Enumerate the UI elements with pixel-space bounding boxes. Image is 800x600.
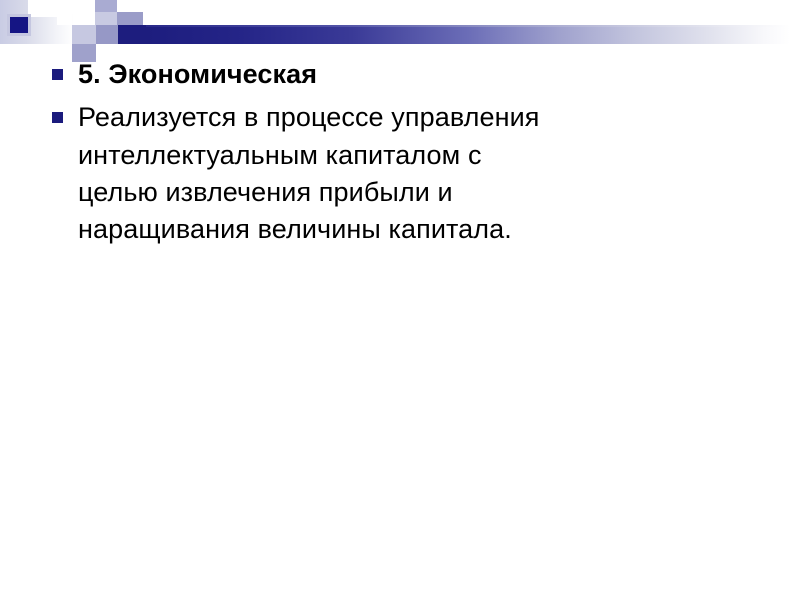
decor-square-white-d <box>117 0 143 12</box>
decor-square-light-a <box>95 12 117 25</box>
decor-square-mid-c <box>96 25 118 44</box>
slide-canvas: 5. Экономическая Реализуется в процессе … <box>0 0 800 600</box>
decor-square-navy-b <box>118 25 146 44</box>
header-decoration <box>0 0 800 56</box>
decor-square-white-b <box>57 0 76 14</box>
decor-square-white-c <box>57 14 72 25</box>
decor-square-white-a <box>28 0 57 17</box>
decor-square-navy-outlined <box>10 17 28 33</box>
square-bullet-icon <box>52 69 63 80</box>
decor-gradient-bar <box>146 25 790 44</box>
list-item: Реализуется в процессе управления интелл… <box>52 99 772 248</box>
slide-body: 5. Экономическая Реализуется в процессе … <box>52 56 772 254</box>
square-bullet-icon <box>52 112 63 123</box>
decor-gradient-bar-highlight <box>146 25 790 27</box>
decor-pale-gradient-block <box>0 0 74 44</box>
bullet-heading-text: 5. Экономическая <box>78 56 772 93</box>
decor-square-mid-b <box>117 12 143 25</box>
bullet-body-text: Реализуется в процессе управления интелл… <box>78 99 548 248</box>
list-item: 5. Экономическая <box>52 56 772 93</box>
decor-square-light-b <box>72 25 96 44</box>
decor-square-mid-a <box>95 0 117 12</box>
